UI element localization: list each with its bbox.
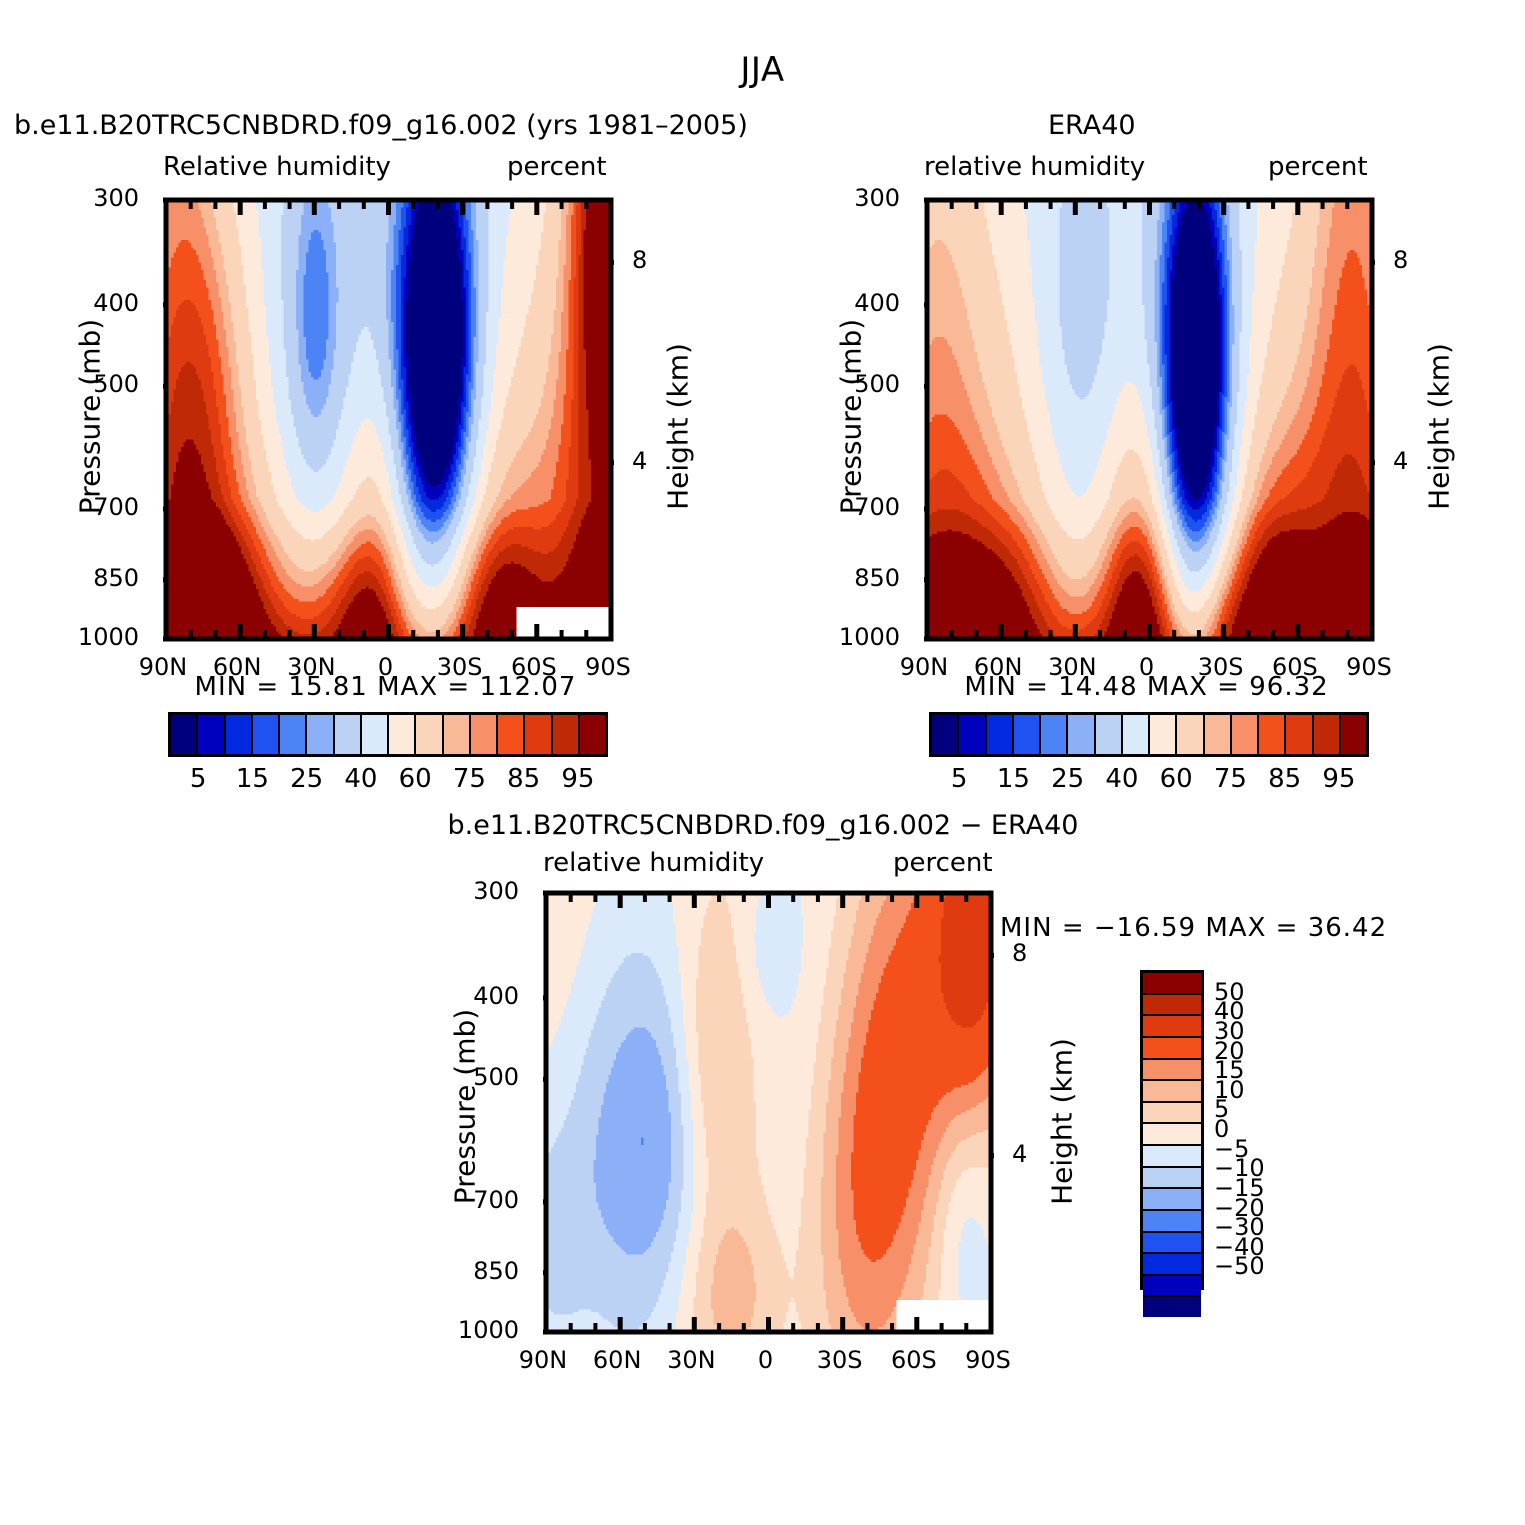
model-ytick-400: 400 xyxy=(0,289,139,317)
model-minmax-text: MIN = 15.81 MAX = 112.07 xyxy=(163,672,608,702)
model-ytick-1000: 1000 xyxy=(0,623,139,651)
colorbar-cell xyxy=(1096,715,1123,754)
diff-xtick-30N: 30N xyxy=(651,1346,731,1374)
colorbar-cell xyxy=(580,715,605,754)
colorbar-cell xyxy=(1143,1211,1201,1233)
diff-ytick-850: 850 xyxy=(343,1257,519,1285)
colorbar-cell xyxy=(1143,1254,1201,1276)
model-ytick-500: 500 xyxy=(0,370,139,398)
obs-minmax-text: MIN = 14.48 MAX = 96.32 xyxy=(924,672,1369,702)
colorbar-cell xyxy=(416,715,443,754)
model-ytick-700: 700 xyxy=(0,493,139,521)
season-title: JJA xyxy=(0,50,1525,90)
colorbar-tick-label: 5 xyxy=(929,764,989,794)
colorbar-cell xyxy=(1150,715,1177,754)
diff-yaxis-label: Pressure (mb) xyxy=(449,997,482,1217)
model-colorbar[interactable] xyxy=(168,712,608,757)
colorbar-cell xyxy=(1314,715,1341,754)
model-y2tick-8: 8 xyxy=(632,246,647,274)
colorbar-cell xyxy=(1143,1016,1201,1038)
colorbar-cell xyxy=(307,715,334,754)
model-ytick-850: 850 xyxy=(0,564,139,592)
obs-yaxis-label: Pressure (mb) xyxy=(835,307,868,527)
obs-ytick-1000: 1000 xyxy=(724,623,900,651)
diff-minmax-text: MIN = −16.59 MAX = 36.42 xyxy=(1000,913,1387,943)
obs-colorbar[interactable] xyxy=(929,712,1369,757)
diff-variable-label: relative humidity xyxy=(543,848,764,878)
obs-ytick-700: 700 xyxy=(724,493,900,521)
colorbar-cell xyxy=(1143,1060,1201,1082)
colorbar-tick-label: −50 xyxy=(1214,1252,1265,1280)
model-ytick-300: 300 xyxy=(0,184,139,212)
diff-y2tick-4: 4 xyxy=(1012,1140,1027,1168)
colorbar-cell xyxy=(525,715,552,754)
colorbar-cell xyxy=(1143,1124,1201,1146)
colorbar-cell xyxy=(362,715,389,754)
colorbar-cell xyxy=(932,715,959,754)
diff-ytick-1000: 1000 xyxy=(343,1316,519,1344)
colorbar-tick-label: 15 xyxy=(983,764,1043,794)
obs-y2tick-4: 4 xyxy=(1393,447,1408,475)
obs-y2tick-8: 8 xyxy=(1393,246,1408,274)
colorbar-cell xyxy=(226,715,253,754)
obs-panel-title: ERA40 xyxy=(1048,110,1136,141)
colorbar-cell xyxy=(1014,715,1041,754)
colorbar-cell xyxy=(1143,1189,1201,1211)
model-panel-title: b.e11.B20TRC5CNBDRD.f09_g16.002 (yrs 198… xyxy=(14,110,748,141)
colorbar-cell xyxy=(1041,715,1068,754)
diff-xtick-90N: 90N xyxy=(503,1346,583,1374)
diff-ytick-400: 400 xyxy=(343,982,519,1010)
colorbar-cell xyxy=(1143,973,1201,995)
obs-variable-label: relative humidity xyxy=(924,152,1145,182)
diff-colorbar[interactable] xyxy=(1140,970,1204,1290)
obs-ytick-500: 500 xyxy=(724,370,900,398)
colorbar-cell xyxy=(171,715,198,754)
colorbar-tick-label: 40 xyxy=(331,764,391,794)
obs-ytick-850: 850 xyxy=(724,564,900,592)
colorbar-cell xyxy=(198,715,225,754)
colorbar-cell xyxy=(1205,715,1232,754)
colorbar-tick-label: 40 xyxy=(1092,764,1152,794)
colorbar-tick-label: 85 xyxy=(1255,764,1315,794)
colorbar-tick-label: 25 xyxy=(277,764,337,794)
colorbar-cell xyxy=(471,715,498,754)
colorbar-cell xyxy=(1143,1297,1201,1317)
colorbar-tick-label: 75 xyxy=(1200,764,1260,794)
model-y2tick-4: 4 xyxy=(632,447,647,475)
model-yaxis-label: Pressure (mb) xyxy=(74,307,107,527)
obs-units-label: percent xyxy=(1268,152,1368,182)
colorbar-cell xyxy=(1143,1146,1201,1168)
colorbar-cell xyxy=(959,715,986,754)
colorbar-tick-label: 25 xyxy=(1038,764,1098,794)
colorbar-cell xyxy=(553,715,580,754)
colorbar-tick-label: 60 xyxy=(385,764,445,794)
diff-ytick-500: 500 xyxy=(343,1063,519,1091)
diff-plot-area xyxy=(543,890,994,1335)
colorbar-cell xyxy=(1143,1038,1201,1060)
model-plot-area xyxy=(163,197,614,642)
diff-xtick-30S: 30S xyxy=(800,1346,880,1374)
colorbar-cell xyxy=(987,715,1014,754)
colorbar-cell xyxy=(1143,1233,1201,1255)
colorbar-tick-label: 85 xyxy=(494,764,554,794)
colorbar-cell xyxy=(1286,715,1313,754)
colorbar-cell xyxy=(1232,715,1259,754)
colorbar-cell xyxy=(444,715,471,754)
colorbar-tick-label: 75 xyxy=(439,764,499,794)
diff-y2axis-label: Height (km) xyxy=(1046,1012,1079,1232)
colorbar-tick-label: 95 xyxy=(1309,764,1369,794)
diff-xtick-90S: 90S xyxy=(948,1346,1028,1374)
colorbar-cell xyxy=(1143,1081,1201,1103)
colorbar-tick-label: 5 xyxy=(168,764,228,794)
colorbar-cell xyxy=(1259,715,1286,754)
obs-y2axis-label: Height (km) xyxy=(1423,317,1456,537)
colorbar-cell xyxy=(280,715,307,754)
colorbar-cell xyxy=(1143,1103,1201,1125)
diff-xtick-60S: 60S xyxy=(874,1346,954,1374)
model-y2axis-label: Height (km) xyxy=(662,317,695,537)
diff-panel-title: b.e11.B20TRC5CNBDRD.f09_g16.002 − ERA40 xyxy=(263,810,1263,841)
diff-xtick-60N: 60N xyxy=(577,1346,657,1374)
diff-y2tick-8: 8 xyxy=(1012,939,1027,967)
colorbar-cell xyxy=(253,715,280,754)
colorbar-cell xyxy=(1123,715,1150,754)
model-variable-label: Relative humidity xyxy=(163,152,391,182)
diff-xtick-0: 0 xyxy=(726,1346,806,1374)
colorbar-cell xyxy=(1068,715,1095,754)
model-units-label: percent xyxy=(507,152,607,182)
colorbar-cell xyxy=(1143,1276,1201,1298)
obs-ytick-300: 300 xyxy=(724,184,900,212)
colorbar-tick-label: 15 xyxy=(222,764,282,794)
colorbar-cell xyxy=(1143,1168,1201,1190)
colorbar-tick-label: 60 xyxy=(1146,764,1206,794)
obs-plot-area xyxy=(924,197,1375,642)
colorbar-tick-label: 95 xyxy=(548,764,608,794)
colorbar-cell xyxy=(335,715,362,754)
colorbar-cell xyxy=(1143,995,1201,1017)
diff-ytick-300: 300 xyxy=(343,877,519,905)
colorbar-cell xyxy=(389,715,416,754)
diff-ytick-700: 700 xyxy=(343,1186,519,1214)
colorbar-cell xyxy=(498,715,525,754)
colorbar-cell xyxy=(1341,715,1366,754)
diff-units-label: percent xyxy=(893,848,993,878)
colorbar-cell xyxy=(1177,715,1204,754)
obs-ytick-400: 400 xyxy=(724,289,900,317)
